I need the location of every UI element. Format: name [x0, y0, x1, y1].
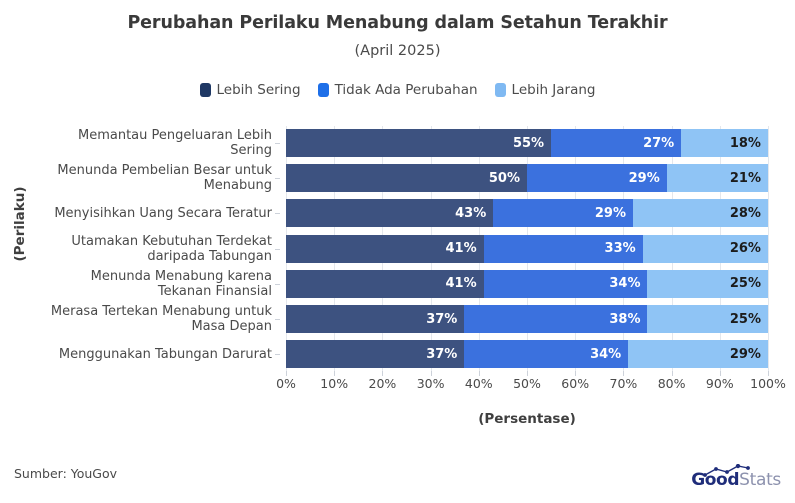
- gridline: [768, 126, 769, 375]
- bar-value-label: 25%: [730, 276, 761, 291]
- bar-value-label: 29%: [730, 347, 761, 362]
- bar-segment[interactable]: 21%: [667, 164, 768, 192]
- y-axis-category-labels: Memantau Pengeluaran Lebih SeringMenunda…: [36, 126, 280, 375]
- x-axis-tick-label: 100%: [750, 376, 786, 391]
- y-axis-label: Utamakan Kebutuhan Terdekat daripada Tab…: [36, 234, 272, 264]
- y-axis-tickmark: [275, 178, 280, 179]
- x-axis-tick-label: 60%: [561, 376, 589, 391]
- bar-segment[interactable]: 25%: [647, 270, 768, 298]
- bar-value-label: 25%: [730, 312, 761, 327]
- bar-segment[interactable]: 33%: [484, 235, 643, 263]
- bar-value-label: 21%: [730, 171, 761, 186]
- bar-segment[interactable]: 38%: [464, 305, 647, 333]
- bar-row[interactable]: 50%29%21%: [286, 164, 768, 192]
- chart-legend: Lebih SeringTidak Ada PerubahanLebih Jar…: [0, 82, 795, 98]
- x-axis-tick-label: 70%: [609, 376, 637, 391]
- bar-value-label: 37%: [426, 347, 457, 362]
- legend-label: Lebih Jarang: [512, 82, 596, 98]
- legend-item[interactable]: Lebih Sering: [200, 82, 301, 98]
- bar-segment[interactable]: 29%: [628, 340, 768, 368]
- chart-subtitle: (April 2025): [0, 43, 795, 59]
- legend-item[interactable]: Tidak Ada Perubahan: [318, 82, 478, 98]
- bar-value-label: 34%: [609, 276, 640, 291]
- bar-row[interactable]: 43%29%28%: [286, 199, 768, 227]
- bar-segment[interactable]: 50%: [286, 164, 527, 192]
- chart-title: Perubahan Perilaku Menabung dalam Setahu…: [0, 13, 795, 33]
- bar-segment[interactable]: 27%: [551, 129, 681, 157]
- y-axis-tickmark: [275, 143, 280, 144]
- x-axis-tick-label: 20%: [368, 376, 396, 391]
- bar-row[interactable]: 41%33%26%: [286, 235, 768, 263]
- bar-segment[interactable]: 34%: [464, 340, 628, 368]
- bar-row[interactable]: 41%34%25%: [286, 270, 768, 298]
- plot-area: 55%27%18%50%29%21%43%29%28%41%33%26%41%3…: [286, 126, 768, 375]
- legend-swatch-icon: [495, 83, 506, 97]
- x-axis-tick-label: 50%: [513, 376, 541, 391]
- bar-value-label: 26%: [730, 241, 761, 256]
- bar-segment[interactable]: 43%: [286, 199, 493, 227]
- bar-value-label: 33%: [605, 241, 636, 256]
- bar-value-label: 41%: [445, 241, 476, 256]
- bar-segment[interactable]: 29%: [493, 199, 633, 227]
- bar-segment[interactable]: 26%: [643, 235, 768, 263]
- bar-value-label: 38%: [609, 312, 640, 327]
- bar-value-label: 43%: [455, 206, 486, 221]
- x-axis-tick-label: 0%: [276, 376, 296, 391]
- y-axis-tickmark: [275, 354, 280, 355]
- x-axis-ticks: 0%10%20%30%40%50%60%70%80%90%100%: [286, 376, 768, 400]
- legend-swatch-icon: [318, 83, 329, 97]
- bar-value-label: 27%: [643, 136, 674, 151]
- bar-value-label: 29%: [629, 171, 660, 186]
- legend-item[interactable]: Lebih Jarang: [495, 82, 596, 98]
- bar-segment[interactable]: 37%: [286, 340, 464, 368]
- bar-row[interactable]: 55%27%18%: [286, 129, 768, 157]
- legend-label: Tidak Ada Perubahan: [335, 82, 478, 98]
- x-axis-tick-label: 10%: [320, 376, 348, 391]
- bar-value-label: 50%: [489, 171, 520, 186]
- y-axis-label: Memantau Pengeluaran Lebih Sering: [36, 128, 272, 158]
- bar-row[interactable]: 37%38%25%: [286, 305, 768, 333]
- bar-segment[interactable]: 55%: [286, 129, 551, 157]
- y-axis-label: Menunda Menabung karena Tekanan Finansia…: [36, 269, 272, 299]
- bar-value-label: 28%: [730, 206, 761, 221]
- source-note: Sumber: YouGov: [14, 466, 117, 481]
- y-axis-tickmark: [275, 284, 280, 285]
- y-axis-label: Merasa Tertekan Menabung untuk Masa Depa…: [36, 304, 272, 334]
- bar-segment[interactable]: 34%: [484, 270, 648, 298]
- bar-segment[interactable]: 41%: [286, 270, 484, 298]
- legend-swatch-icon: [200, 83, 211, 97]
- y-axis-tickmark: [275, 213, 280, 214]
- goodstats-logo: GoodStats: [691, 459, 781, 489]
- sparkline-icon: [703, 464, 751, 478]
- legend-label: Lebih Sering: [217, 82, 301, 98]
- bar-row[interactable]: 37%34%29%: [286, 340, 768, 368]
- x-axis-tick-label: 40%: [465, 376, 493, 391]
- bar-segment[interactable]: 41%: [286, 235, 484, 263]
- y-axis-label: Menggunakan Tabungan Darurat: [36, 347, 272, 362]
- bar-value-label: 29%: [595, 206, 626, 221]
- bar-segment[interactable]: 29%: [527, 164, 667, 192]
- stacked-bar-series: 55%27%18%50%29%21%43%29%28%41%33%26%41%3…: [286, 126, 768, 375]
- y-axis-tickmark: [275, 319, 280, 320]
- x-axis-tick-label: 80%: [658, 376, 686, 391]
- x-axis-tick-label: 90%: [706, 376, 734, 391]
- bar-segment[interactable]: 25%: [647, 305, 768, 333]
- y-axis-label: Menyisihkan Uang Secara Teratur: [36, 206, 272, 221]
- x-axis-title: (Persentase): [286, 411, 768, 427]
- bar-segment[interactable]: 28%: [633, 199, 768, 227]
- bar-value-label: 37%: [426, 312, 457, 327]
- y-axis-tickmark: [275, 249, 280, 250]
- bar-value-label: 41%: [445, 276, 476, 291]
- bar-value-label: 55%: [513, 136, 544, 151]
- y-axis-title: (Perilaku): [12, 164, 28, 284]
- x-axis-tick-label: 30%: [417, 376, 445, 391]
- bar-segment[interactable]: 37%: [286, 305, 464, 333]
- bar-segment[interactable]: 18%: [681, 129, 768, 157]
- bar-value-label: 18%: [730, 136, 761, 151]
- y-axis-label: Menunda Pembelian Besar untuk Menabung: [36, 163, 272, 193]
- bar-value-label: 34%: [590, 347, 621, 362]
